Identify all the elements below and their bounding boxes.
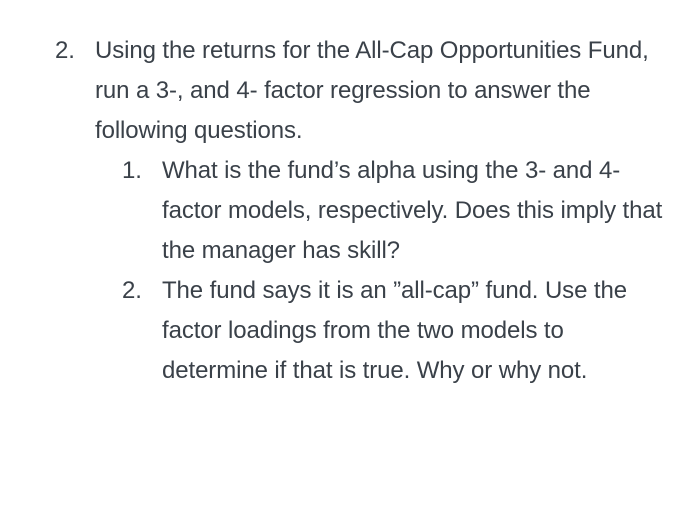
sub-question-text: The fund says it is an ”all-cap” fund. U… <box>162 271 672 391</box>
document-page: 2. Using the returns for the All-Cap Opp… <box>0 0 700 525</box>
question-text: Using the returns for the All-Cap Opport… <box>95 31 660 151</box>
sub-question-marker: 2. <box>122 271 156 311</box>
question-marker: 2. <box>55 31 89 71</box>
sub-question-text: What is the fund’s alpha using the 3- an… <box>162 151 672 271</box>
sub-question-item-2: 2. The fund says it is an ”all-cap” fund… <box>95 271 700 391</box>
outer-question-list: 2. Using the returns for the All-Cap Opp… <box>0 31 700 391</box>
sub-question-item-1: 1. What is the fund’s alpha using the 3-… <box>95 151 700 271</box>
sub-question-marker: 1. <box>122 151 156 191</box>
question-item-2: 2. Using the returns for the All-Cap Opp… <box>0 31 700 391</box>
sub-question-list: 1. What is the fund’s alpha using the 3-… <box>95 151 700 391</box>
question-block: 2. Using the returns for the All-Cap Opp… <box>0 31 700 391</box>
